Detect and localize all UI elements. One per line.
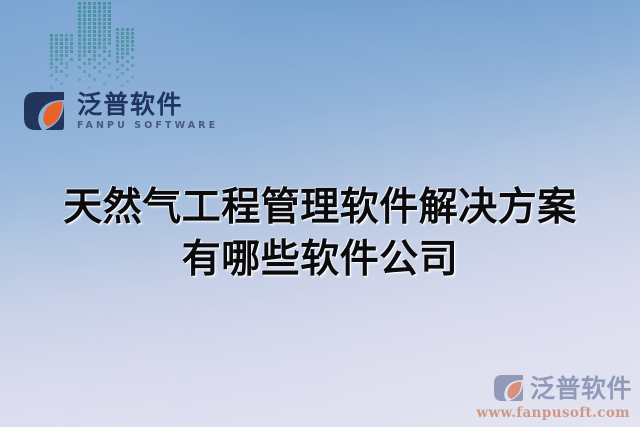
banner-image: 泛普软件 FANPU SOFTWARE 天然气工程管理软件解决方案 有哪些软件公… — [0, 0, 640, 427]
brand-wordmark: 泛普软件 FANPU SOFTWARE — [77, 92, 218, 131]
watermark: 泛普软件 www.fanpusoft.com — [477, 373, 633, 421]
page-title: 天然气工程管理软件解决方案 有哪些软件公司 — [0, 182, 640, 287]
watermark-name-cn: 泛普软件 — [530, 376, 632, 401]
brand-logo: 泛普软件 FANPU SOFTWARE — [22, 88, 218, 134]
page-title-line-2: 有哪些软件公司 — [0, 234, 640, 286]
watermark-url: www.fanpusoft.com — [477, 405, 631, 421]
watermark-brand-row: 泛普软件 — [492, 373, 632, 403]
page-title-line-1: 天然气工程管理软件解决方案 — [0, 182, 640, 234]
fanpu-logo-mark-icon — [22, 88, 68, 134]
brand-name-en: FANPU SOFTWARE — [77, 121, 218, 131]
brand-name-cn: 泛普软件 — [77, 92, 218, 117]
pixel-city-icon — [46, 0, 156, 96]
fanpu-watermark-mark-icon — [492, 373, 526, 403]
